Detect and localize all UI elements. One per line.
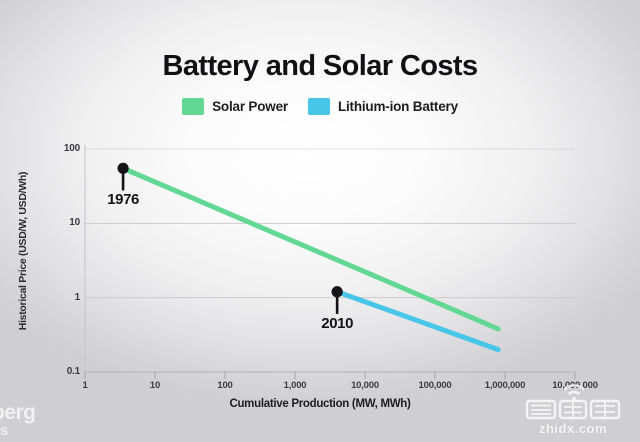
x-tick-label: 1,000 (284, 380, 307, 391)
x-tick-label: 1 (82, 380, 87, 391)
watermark-zhidx-domain: zhidx.com (514, 421, 632, 436)
zhidx-logo-icon (521, 380, 625, 420)
chart-screenshot: Battery and Solar Costs Solar Power Lith… (0, 0, 640, 442)
series-line (123, 168, 498, 329)
annotation-pin-dot (117, 163, 128, 174)
x-axis-ticks (85, 372, 575, 379)
annotation-pins (117, 163, 342, 313)
annotation-label-2010: 2010 (321, 315, 353, 332)
y-tick-label: 1 (75, 292, 80, 303)
x-tick-label: 100 (217, 380, 232, 391)
watermark-bloomberg: berg ss (0, 402, 36, 438)
y-axis-title: Historical Price (USD/W, USD/Wh) (17, 151, 29, 351)
series-lines (123, 168, 498, 349)
watermark-bloomberg-primary: berg (0, 401, 36, 424)
annotation-pin-dot (332, 286, 343, 297)
watermark-bloomberg-secondary: ss (0, 423, 36, 438)
y-tick-label: 10 (69, 217, 80, 228)
plot-canvas (0, 0, 640, 442)
y-tick-label: 0.1 (67, 366, 80, 377)
y-tick-label: 100 (64, 143, 80, 154)
watermark-zhidx: zhidx.com (514, 380, 632, 436)
annotation-label-1976: 1976 (107, 191, 139, 208)
x-tick-label: 10 (150, 380, 160, 391)
x-tick-label: 10,000 (351, 380, 379, 391)
x-tick-label: 100,000 (419, 380, 452, 391)
y-axis-tick-labels: 1001010.1 (52, 0, 80, 442)
